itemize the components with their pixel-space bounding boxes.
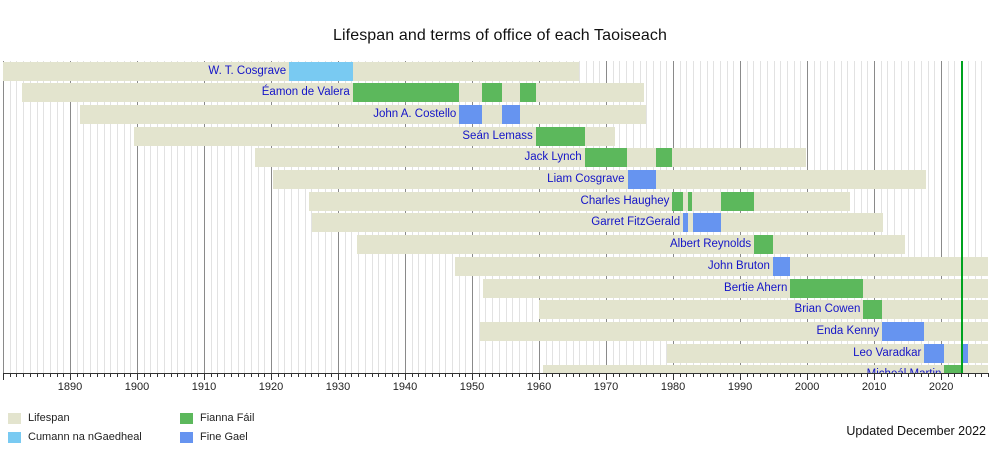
axis-tick-minor — [686, 373, 687, 377]
axis-tick-label: 1980 — [661, 381, 685, 393]
taoiseach-name-label: Charles Haughey — [581, 192, 670, 211]
axis-tick-major — [70, 373, 71, 380]
axis-tick-label: 1940 — [393, 381, 417, 393]
axis-tick-minor — [800, 373, 801, 377]
timeline-row: Albert Reynolds — [3, 235, 988, 254]
axis-tick-minor — [619, 373, 620, 377]
plot-area: W. T. CosgraveÉamon de ValeraJohn A. Cos… — [3, 61, 988, 373]
axis-tick-label: 1990 — [728, 381, 752, 393]
axis-tick-minor — [573, 373, 574, 377]
axis-tick-minor — [191, 373, 192, 377]
axis-tick-minor — [767, 373, 768, 377]
axis-tick-minor — [827, 373, 828, 377]
axis-tick-minor — [934, 373, 935, 377]
axis-tick-minor — [43, 373, 44, 377]
term-bar-ff[interactable] — [754, 235, 773, 254]
axis-tick-minor — [425, 373, 426, 377]
taoiseach-name-label: Brian Cowen — [795, 300, 861, 319]
axis-tick-minor — [258, 373, 259, 377]
axis-tick-major — [338, 373, 339, 380]
axis-tick-minor — [479, 373, 480, 377]
axis-tick-minor — [954, 373, 955, 377]
axis-tick-minor — [77, 373, 78, 377]
axis-tick-label: 2010 — [862, 381, 886, 393]
axis-tick-minor — [217, 373, 218, 377]
axis-tick-minor — [284, 373, 285, 377]
axis-tick-minor — [519, 373, 520, 377]
axis-tick-label: 1900 — [125, 381, 149, 393]
axis-tick-minor — [988, 373, 989, 377]
axis-tick-minor — [398, 373, 399, 377]
axis-tick-minor — [157, 373, 158, 377]
axis-tick-label: 1890 — [58, 381, 82, 393]
axis-tick-minor — [968, 373, 969, 377]
legend-swatch — [8, 432, 21, 443]
axis-tick-minor — [177, 373, 178, 377]
timeline-row: John Bruton — [3, 257, 988, 276]
taoiseach-name-label: Jack Lynch — [525, 148, 582, 167]
axis-tick-minor — [653, 373, 654, 377]
axis-tick-minor — [224, 373, 225, 377]
axis-tick-minor — [881, 373, 882, 377]
taoiseach-name-label: Enda Kenny — [816, 322, 879, 341]
axis-tick-minor — [459, 373, 460, 377]
axis-tick-minor — [680, 373, 681, 377]
axis-tick-minor — [847, 373, 848, 377]
term-bar-fg[interactable] — [882, 322, 924, 341]
axis-tick-minor — [492, 373, 493, 377]
axis-tick-minor — [83, 373, 84, 377]
term-bar-ff[interactable] — [721, 192, 755, 211]
axis-tick-minor — [586, 373, 587, 377]
axis-tick-major — [3, 373, 4, 380]
axis-tick-minor — [184, 373, 185, 377]
timeline-row: Liam Cosgrave — [3, 170, 988, 189]
axis-tick-major — [204, 373, 205, 380]
axis-tick-minor — [593, 373, 594, 377]
term-bar-ff[interactable] — [585, 148, 628, 167]
axis-tick-minor — [928, 373, 929, 377]
axis-tick-minor — [351, 373, 352, 377]
axis-tick-minor — [975, 373, 976, 377]
timeline-row: Bertie Ahern — [3, 279, 988, 298]
axis-tick-minor — [150, 373, 151, 377]
lifespan-bar — [80, 105, 646, 124]
axis-tick-minor — [733, 373, 734, 377]
axis-tick-minor — [499, 373, 500, 377]
axis-tick-minor — [834, 373, 835, 377]
axis-tick-minor — [378, 373, 379, 377]
axis-tick-minor — [418, 373, 419, 377]
axis-tick-minor — [908, 373, 909, 377]
timeline-row: John A. Costello — [3, 105, 988, 124]
timeline-row: Charles Haughey — [3, 192, 988, 211]
taoiseach-name-label: Micheál Martin — [867, 365, 942, 373]
axis-tick-minor — [981, 373, 982, 377]
axis-tick-minor — [820, 373, 821, 377]
term-bar-fg[interactable] — [773, 257, 790, 276]
axis-tick-major — [606, 373, 607, 380]
axis-tick-minor — [311, 373, 312, 377]
axis-tick-minor — [894, 373, 895, 377]
timeline-row: Micheál Martin — [3, 365, 988, 373]
legend-swatch — [8, 413, 21, 424]
axis-tick-minor — [412, 373, 413, 377]
axis-tick-minor — [30, 373, 31, 377]
term-bar-ff[interactable] — [672, 192, 683, 211]
x-axis: 1890190019101920193019401950196019701980… — [3, 373, 988, 397]
axis-tick-minor — [278, 373, 279, 377]
axis-tick-minor — [774, 373, 775, 377]
axis-tick-minor — [16, 373, 17, 377]
axis-tick-minor — [720, 373, 721, 377]
axis-tick-major — [740, 373, 741, 380]
axis-tick-minor — [372, 373, 373, 377]
axis-tick-major — [874, 373, 875, 380]
axis-tick-minor — [104, 373, 105, 377]
axis-tick-minor — [566, 373, 567, 377]
current-date-line — [961, 61, 963, 373]
axis-tick-minor — [345, 373, 346, 377]
axis-tick-minor — [707, 373, 708, 377]
axis-tick-minor — [124, 373, 125, 377]
axis-tick-minor — [814, 373, 815, 377]
timeline-row: Enda Kenny — [3, 322, 988, 341]
axis-tick-minor — [452, 373, 453, 377]
axis-tick-minor — [599, 373, 600, 377]
axis-tick-major — [941, 373, 942, 380]
axis-tick-minor — [841, 373, 842, 377]
axis-tick-minor — [626, 373, 627, 377]
axis-tick-minor — [211, 373, 212, 377]
term-bar-fg[interactable] — [459, 105, 482, 124]
axis-tick-minor — [526, 373, 527, 377]
axis-tick-minor — [331, 373, 332, 377]
axis-tick-minor — [90, 373, 91, 377]
axis-tick-major — [137, 373, 138, 380]
axis-tick-minor — [914, 373, 915, 377]
term-bar-fg[interactable] — [628, 170, 657, 189]
term-bar-cng[interactable] — [289, 62, 353, 81]
legend-swatch — [180, 413, 193, 424]
axis-tick-major — [405, 373, 406, 380]
axis-tick-minor — [787, 373, 788, 377]
axis-tick-label: 1930 — [326, 381, 350, 393]
axis-tick-minor — [117, 373, 118, 377]
axis-tick-minor — [23, 373, 24, 377]
axis-tick-label: 1970 — [594, 381, 618, 393]
taoiseach-name-label: Leo Varadkar — [853, 344, 921, 363]
axis-tick-minor — [901, 373, 902, 377]
page-title: Lifespan and terms of office of each Tao… — [0, 27, 1000, 45]
taoiseach-name-label: Garret FitzGerald — [591, 213, 680, 232]
axis-tick-minor — [760, 373, 761, 377]
axis-tick-minor — [861, 373, 862, 377]
axis-tick-minor — [921, 373, 922, 377]
axis-tick-minor — [251, 373, 252, 377]
axis-tick-minor — [57, 373, 58, 377]
axis-tick-minor — [485, 373, 486, 377]
timeline-row: Garret FitzGerald — [3, 213, 988, 232]
legend-label: Fine Gael — [200, 430, 248, 445]
term-bar-ff[interactable] — [482, 83, 501, 102]
axis-tick-minor — [10, 373, 11, 377]
axis-tick-minor — [693, 373, 694, 377]
axis-tick-minor — [646, 373, 647, 377]
term-bar-fg[interactable] — [693, 213, 721, 232]
axis-tick-minor — [144, 373, 145, 377]
term-bar-ff[interactable] — [790, 279, 863, 298]
axis-tick-minor — [753, 373, 754, 377]
axis-tick-minor — [291, 373, 292, 377]
axis-tick-minor — [244, 373, 245, 377]
axis-tick-minor — [660, 373, 661, 377]
axis-tick-minor — [439, 373, 440, 377]
axis-tick-minor — [854, 373, 855, 377]
axis-tick-minor — [552, 373, 553, 377]
taoiseach-name-label: Albert Reynolds — [670, 235, 751, 254]
axis-tick-minor — [887, 373, 888, 377]
taoiseach-name-label: John A. Costello — [373, 105, 456, 124]
term-bar-ff[interactable] — [688, 192, 693, 211]
axis-tick-minor — [305, 373, 306, 377]
axis-tick-minor — [325, 373, 326, 377]
axis-tick-minor — [385, 373, 386, 377]
taoiseach-name-label: W. T. Cosgrave — [208, 62, 286, 81]
axis-tick-minor — [747, 373, 748, 377]
taoiseach-name-label: John Bruton — [708, 257, 770, 276]
axis-tick-minor — [559, 373, 560, 377]
axis-tick-label: 1960 — [527, 381, 551, 393]
axis-tick-minor — [640, 373, 641, 377]
axis-tick-minor — [506, 373, 507, 377]
timeline-row: Brian Cowen — [3, 300, 988, 319]
lifespan-bar — [539, 300, 988, 319]
axis-tick-minor — [358, 373, 359, 377]
axis-tick-label: 2000 — [795, 381, 819, 393]
legend-label: Lifespan — [28, 411, 70, 426]
axis-tick-label: 1920 — [259, 381, 283, 393]
axis-tick-minor — [238, 373, 239, 377]
axis-tick-minor — [948, 373, 949, 377]
axis-tick-minor — [666, 373, 667, 377]
term-bar-ff[interactable] — [863, 300, 882, 319]
axis-tick-minor — [445, 373, 446, 377]
legend-label: Cumann na nGaedheal — [28, 430, 142, 445]
axis-tick-minor — [546, 373, 547, 377]
axis-tick-minor — [713, 373, 714, 377]
axis-tick-minor — [780, 373, 781, 377]
axis-tick-minor — [63, 373, 64, 377]
axis-tick-minor — [318, 373, 319, 377]
timeline-row: Leo Varadkar — [3, 344, 988, 363]
term-bar-ff[interactable] — [944, 365, 960, 373]
axis-tick-minor — [97, 373, 98, 377]
axis-tick-minor — [264, 373, 265, 377]
axis-tick-major — [472, 373, 473, 380]
axis-tick-minor — [700, 373, 701, 377]
legend-label: Fianna Fáil — [200, 411, 254, 426]
updated-caption: Updated December 2022 — [846, 424, 986, 438]
axis-tick-minor — [579, 373, 580, 377]
axis-tick-minor — [794, 373, 795, 377]
taoiseach-name-label: Éamon de Valera — [262, 83, 350, 102]
term-bar-ff[interactable] — [353, 83, 460, 102]
term-bar-fg[interactable] — [683, 213, 688, 232]
term-bar-ff[interactable] — [536, 127, 585, 146]
axis-tick-minor — [512, 373, 513, 377]
timeline-row: Jack Lynch — [3, 148, 988, 167]
lifespan-bar — [357, 235, 904, 254]
axis-tick-minor — [171, 373, 172, 377]
legend-swatch — [180, 432, 193, 443]
axis-tick-minor — [365, 373, 366, 377]
axis-tick-minor — [298, 373, 299, 377]
axis-tick-minor — [633, 373, 634, 377]
timeline-row: Seán Lemass — [3, 127, 988, 146]
axis-tick-minor — [110, 373, 111, 377]
term-bar-ff[interactable] — [656, 148, 672, 167]
timeline-row: W. T. Cosgrave — [3, 62, 988, 81]
axis-tick-minor — [465, 373, 466, 377]
axis-tick-minor — [197, 373, 198, 377]
axis-tick-label: 1950 — [460, 381, 484, 393]
axis-tick-minor — [231, 373, 232, 377]
axis-tick-major — [673, 373, 674, 380]
axis-tick-major — [807, 373, 808, 380]
axis-tick-major — [271, 373, 272, 380]
legend: LifespanCumann na nGaedhealFianna FáilFi… — [8, 411, 428, 447]
axis-tick-minor — [432, 373, 433, 377]
axis-tick-minor — [532, 373, 533, 377]
term-bar-fg[interactable] — [924, 344, 944, 363]
timeline-chart: Lifespan and terms of office of each Tao… — [0, 0, 1000, 450]
axis-tick-minor — [961, 373, 962, 377]
axis-tick-minor — [37, 373, 38, 377]
taoiseach-name-label: Bertie Ahern — [724, 279, 787, 298]
axis-tick-minor — [164, 373, 165, 377]
axis-tick-label: 1910 — [192, 381, 216, 393]
timeline-row: Éamon de Valera — [3, 83, 988, 102]
axis-tick-minor — [613, 373, 614, 377]
taoiseach-name-label: Seán Lemass — [462, 127, 532, 146]
axis-tick-label: 2020 — [929, 381, 953, 393]
axis-tick-minor — [50, 373, 51, 377]
taoiseach-name-label: Liam Cosgrave — [547, 170, 624, 189]
axis-tick-minor — [392, 373, 393, 377]
axis-tick-minor — [867, 373, 868, 377]
axis-tick-minor — [727, 373, 728, 377]
term-bar-ff[interactable] — [520, 83, 535, 102]
term-bar-fg[interactable] — [502, 105, 521, 124]
axis-tick-major — [539, 373, 540, 380]
axis-tick-minor — [130, 373, 131, 377]
